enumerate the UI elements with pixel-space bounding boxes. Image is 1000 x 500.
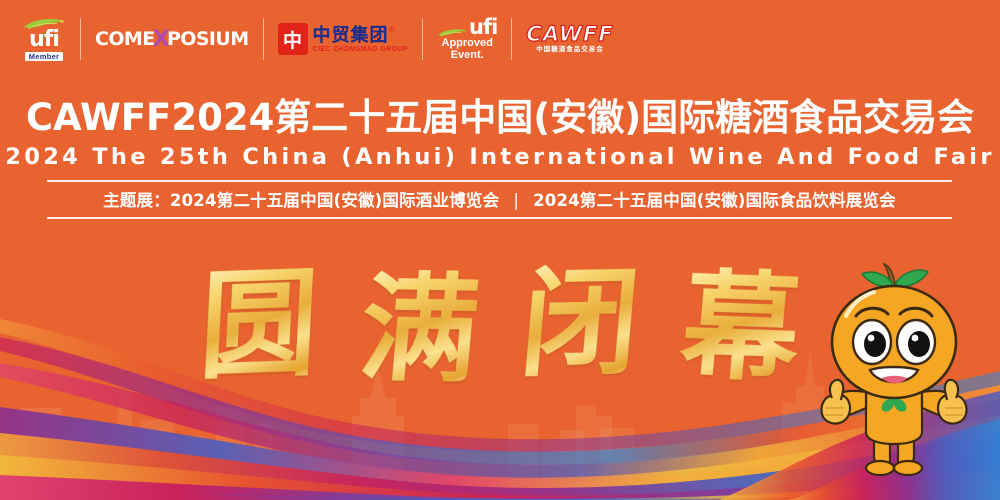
theme-exhibitions-text: 主题展：2024第二十五届中国(安徽)国际酒业博览会|2024第二十五届中国(安…	[47, 187, 952, 211]
theme-exhibitions-bar: 主题展：2024第二十五届中国(安徽)国际酒业博览会|2024第二十五届中国(安…	[47, 180, 952, 219]
zhongmao-en-name: CIEC ZHONGMAO GROUP	[313, 46, 409, 53]
headline-block: CAWFF2024第二十五届中国(安徽)国际糖酒食品交易会 2024 The 2…	[0, 96, 1000, 170]
comexposium-part-1: COME	[95, 28, 155, 50]
ufi-member-wordmark: ufi	[29, 29, 59, 51]
calligraphy-headline: 圆 满 闭 幕	[200, 255, 800, 395]
registered-trademark-icon: ®	[389, 26, 395, 34]
calligraphy-char-1: 圆	[197, 264, 322, 386]
comexposium-logo[interactable]: COMEXPOSIUM	[95, 11, 249, 67]
logo-divider-4	[511, 18, 512, 60]
cawff-wordmark: CAWFF	[526, 24, 613, 45]
orange-fruit-mascot	[794, 258, 994, 488]
cawff-cn-subtitle: 中国糖酒食品交易会	[536, 47, 604, 54]
zhongmao-dragon-mark-icon: 中	[278, 23, 308, 55]
event-title-english: 2024 The 25th China (Anhui) Internationa…	[0, 144, 1000, 170]
ufi-event-label: Event.	[451, 50, 484, 62]
ciec-zhongmao-group-logo[interactable]: 中 中贸集团 ® CIEC ZHONGMAO GROUP	[278, 11, 409, 67]
mascot-stem-and-leaves-icon	[862, 264, 928, 288]
event-title-chinese: CAWFF2024第二十五届中国(安徽)国际糖酒食品交易会	[0, 96, 1000, 140]
calligraphy-char-3: 闭	[516, 263, 645, 383]
ufi-approved-event-logo[interactable]: ufi Approved Event.	[437, 11, 497, 67]
cawff-logo[interactable]: CAWFF 中国糖酒食品交易会	[526, 11, 613, 67]
ufi-member-logo[interactable]: ufi Member	[22, 11, 66, 67]
calligraphy-char-4: 幕	[677, 266, 805, 388]
ufi-approved-wordmark: ufi	[469, 16, 497, 38]
partner-logo-bar: ufi Member COMEXPOSIUM 中 中贸集团 ® CIEC ZHO…	[0, 0, 1000, 78]
event-poster: ufi Member COMEXPOSIUM 中 中贸集团 ® CIEC ZHO…	[0, 0, 1000, 500]
theme-separator: |	[513, 191, 519, 210]
theme-exhibition-2: 2024第二十五届中国(安徽)国际食品饮料展览会	[533, 191, 896, 210]
theme-prefix: 主题展：	[103, 191, 170, 210]
calligraphy-char-2: 满	[355, 269, 483, 389]
logo-divider-1	[80, 18, 81, 60]
theme-exhibition-1: 2024第二十五届中国(安徽)国际酒业博览会	[170, 191, 499, 210]
logo-divider-3	[422, 18, 423, 60]
logo-divider-2	[263, 18, 264, 60]
ufi-member-badge: Member	[25, 52, 64, 62]
comexposium-part-2: POSIUM	[167, 28, 249, 50]
zhongmao-cn-name: 中贸集团	[313, 26, 389, 44]
